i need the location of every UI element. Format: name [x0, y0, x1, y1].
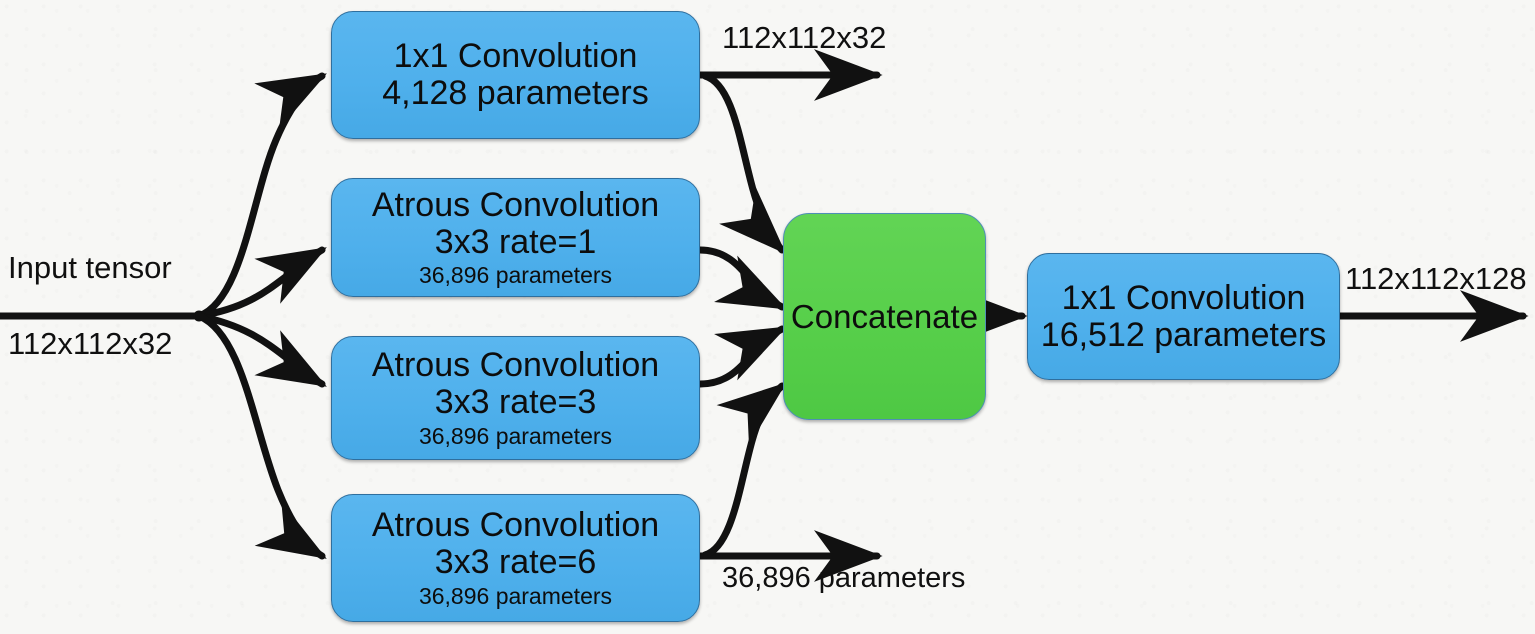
branch-atrous-rate-1-block[interactable]: Atrous Convolution 3x3 rate=1 36,896 par…	[331, 178, 700, 297]
branch-4-line-3: 36,896 parameters	[419, 584, 612, 609]
branch-2-line-3: 36,896 parameters	[419, 263, 612, 288]
output-conv-line-2: 16,512 parameters	[1041, 317, 1326, 354]
branch-3-line-3: 36,896 parameters	[419, 424, 612, 449]
edge-branch-3-to-concat	[700, 329, 782, 384]
branch-atrous-rate-3-block[interactable]: Atrous Convolution 3x3 rate=3 36,896 par…	[331, 336, 700, 460]
edge-input-to-branch-4	[199, 316, 322, 556]
branch-1x1-conv-block[interactable]: 1x1 Convolution 4,128 parameters	[331, 11, 700, 139]
branch-1-line-1: 1x1 Convolution	[394, 38, 638, 75]
edge-branch-4-to-concat	[705, 386, 782, 555]
edge-input-to-branch-1	[199, 76, 322, 316]
input-tensor-shape-label: 112x112x32	[8, 326, 172, 362]
bottom-branch-parameters-label: 36,896 parameters	[722, 562, 965, 595]
output-1x1-conv-block[interactable]: 1x1 Convolution 16,512 parameters	[1027, 253, 1340, 380]
branch-1-line-2: 4,128 parameters	[382, 75, 649, 112]
branch-3-line-1: Atrous Convolution	[372, 347, 659, 384]
edge-branch-1-to-concat	[705, 76, 782, 250]
top-branch-output-shape-label: 112x112x32	[722, 20, 886, 56]
output-conv-line-1: 1x1 Convolution	[1062, 280, 1306, 317]
branch-3-line-2: 3x3 rate=3	[435, 384, 597, 421]
branch-2-line-1: Atrous Convolution	[372, 187, 659, 224]
diagram-canvas: Input tensor 112x112x32 1x1 Convolution …	[0, 0, 1535, 634]
branch-2-line-2: 3x3 rate=1	[435, 224, 597, 261]
concatenate-label: Concatenate	[791, 299, 978, 335]
branch-atrous-rate-6-block[interactable]: Atrous Convolution 3x3 rate=6 36,896 par…	[331, 494, 700, 622]
branch-4-line-1: Atrous Convolution	[372, 507, 659, 544]
concatenate-block[interactable]: Concatenate	[783, 213, 986, 420]
branch-4-line-2: 3x3 rate=6	[435, 544, 597, 581]
edge-branch-2-to-concat	[700, 250, 782, 307]
final-output-shape-label: 112x112x128	[1345, 261, 1527, 297]
edge-input-trunk	[0, 311, 205, 322]
input-tensor-name-label: Input tensor	[8, 250, 172, 286]
